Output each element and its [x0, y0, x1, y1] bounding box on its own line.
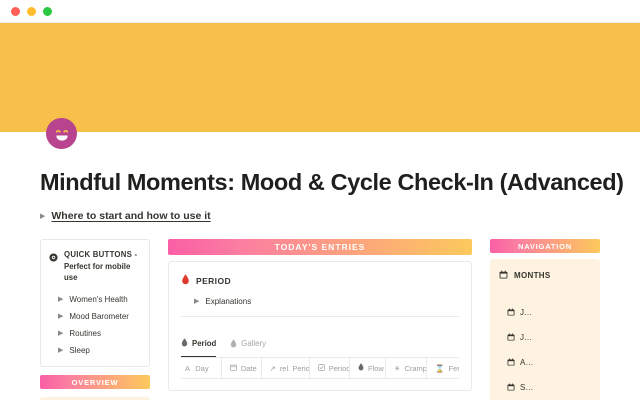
triangle-right-icon: ▶: [58, 296, 63, 303]
divider: [181, 316, 459, 317]
blood-drop-icon: [181, 334, 188, 352]
column-header-flow[interactable]: Flow: [350, 358, 386, 378]
month-link-4[interactable]: S…: [507, 378, 591, 396]
period-panel-title: PERIOD: [196, 276, 231, 286]
quick-button-routines[interactable]: ▶ Routines: [58, 329, 141, 338]
month-link-1[interactable]: J…: [507, 303, 591, 321]
months-header[interactable]: MONTHS: [491, 260, 599, 291]
quick-buttons-subtitle: Perfect for mobile use: [64, 261, 141, 284]
month-label: J…: [520, 308, 532, 317]
calendar-icon: [507, 378, 515, 396]
todays-entries-banner: TODAY'S ENTRIES: [168, 239, 472, 255]
quick-buttons-header: QUICK BUTTONS - Perfect for mobile use: [41, 240, 149, 284]
month-link-2[interactable]: J…: [507, 328, 591, 346]
center-content-column: TODAY'S ENTRIES PERIOD ▶ Explanations: [168, 239, 472, 400]
tab-period-label: Period: [192, 339, 216, 348]
database-view-tabs: Period Gallery: [181, 334, 459, 357]
column-header-date[interactable]: Date: [222, 358, 262, 378]
quick-button-label: Sleep: [69, 346, 89, 355]
triangle-right-icon[interactable]: ▶: [194, 298, 199, 305]
three-column-layout: QUICK BUTTONS - Perfect for mobile use ▶…: [40, 239, 600, 400]
intro-toggle[interactable]: ▶ Where to start and how to use it: [40, 210, 600, 222]
blood-drop-icon: [358, 363, 364, 373]
intro-toggle-label[interactable]: Where to start and how to use it: [51, 210, 210, 222]
calendar-icon: [507, 303, 515, 321]
sun-icon: ☀: [394, 364, 401, 373]
calendar-icon: [499, 270, 508, 281]
explanations-toggle[interactable]: ▶ Explanations: [194, 297, 459, 306]
table-header-row: A Day Date ↗ rel: [181, 357, 459, 379]
column-header-label: Cramps: [404, 364, 427, 373]
page-icon-avatar[interactable]: [46, 118, 77, 149]
column-header-label: Period: [329, 364, 350, 373]
quick-button-sleep[interactable]: ▶ Sleep: [58, 346, 141, 355]
page-cover-image[interactable]: [0, 23, 640, 132]
tab-gallery-label: Gallery: [241, 339, 266, 348]
page-title: Mindful Moments: Mood & Cycle Check-In (…: [40, 169, 600, 196]
window-minimize-button[interactable]: [27, 7, 36, 16]
column-header-label: Date: [241, 364, 257, 373]
triangle-right-icon: ▶: [58, 313, 63, 320]
triangle-right-icon[interactable]: ▶: [40, 213, 45, 220]
column-header-label: rel. Period: [280, 364, 310, 373]
checkbox-icon: [318, 364, 325, 373]
month-link-3[interactable]: A…: [507, 353, 591, 371]
right-sidebar-column: NAVIGATION MONTHS: [490, 239, 600, 400]
quick-button-womens-health[interactable]: ▶ Women's Health: [58, 295, 141, 304]
blood-drop-icon: [181, 272, 190, 290]
window-close-button[interactable]: [11, 7, 20, 16]
rollup-icon: ↗: [270, 364, 276, 373]
month-label: J…: [520, 333, 532, 342]
column-header-label: Fer: [448, 364, 459, 373]
month-label: S…: [520, 383, 533, 392]
page-body: Mindful Moments: Mood & Cycle Check-In (…: [0, 169, 640, 400]
grinning-face-emoji-icon: [51, 123, 73, 145]
calendar-icon: [230, 364, 237, 373]
overview-banner: OVERVIEW: [40, 375, 150, 389]
tab-period[interactable]: Period: [181, 334, 216, 357]
column-header-period[interactable]: Period: [310, 358, 350, 378]
text-icon: A: [185, 364, 191, 373]
column-header-rel-period[interactable]: ↗ rel. Period: [262, 358, 310, 378]
triangle-right-icon: ▶: [58, 330, 63, 337]
months-list: J… J… A…: [491, 291, 599, 400]
left-sidebar-column: QUICK BUTTONS - Perfect for mobile use ▶…: [40, 239, 150, 400]
quick-button-label: Routines: [69, 329, 101, 338]
period-panel-header: PERIOD: [181, 272, 459, 290]
blood-drop-icon: [230, 335, 237, 353]
quick-button-label: Mood Barometer: [69, 312, 129, 321]
window-zoom-button[interactable]: [43, 7, 52, 16]
tab-gallery[interactable]: Gallery: [230, 334, 266, 357]
quick-buttons-card: QUICK BUTTONS - Perfect for mobile use ▶…: [40, 239, 150, 367]
column-header-label: Flow: [368, 364, 384, 373]
column-header-label: Day: [195, 364, 208, 373]
quick-buttons-title: QUICK BUTTONS - Perfect for mobile use: [64, 249, 141, 284]
quick-buttons-list: ▶ Women's Health ▶ Mood Barometer ▶ Rout…: [41, 284, 149, 366]
quick-buttons-title-line1: QUICK BUTTONS -: [64, 250, 137, 259]
month-label: A…: [520, 358, 533, 367]
months-title: MONTHS: [514, 271, 550, 280]
quick-button-label: Women's Health: [69, 295, 127, 304]
navigation-banner: NAVIGATION: [490, 239, 600, 253]
triangle-right-icon: ▶: [58, 347, 63, 354]
gear-icon: [49, 249, 58, 267]
hourglass-icon: ⌛: [435, 364, 444, 373]
quick-button-mood-barometer[interactable]: ▶ Mood Barometer: [58, 312, 141, 321]
months-card: MONTHS J… J…: [490, 259, 600, 400]
explanations-label: Explanations: [205, 297, 251, 306]
calendar-icon: [507, 328, 515, 346]
column-header-cramps[interactable]: ☀ Cramps: [386, 358, 427, 378]
period-panel: PERIOD ▶ Explanations Period: [168, 261, 472, 391]
column-header-fertility[interactable]: ⌛ Fer: [427, 358, 459, 378]
column-header-day[interactable]: A Day: [181, 358, 222, 378]
window-titlebar: [0, 0, 640, 23]
calendar-icon: [507, 353, 515, 371]
